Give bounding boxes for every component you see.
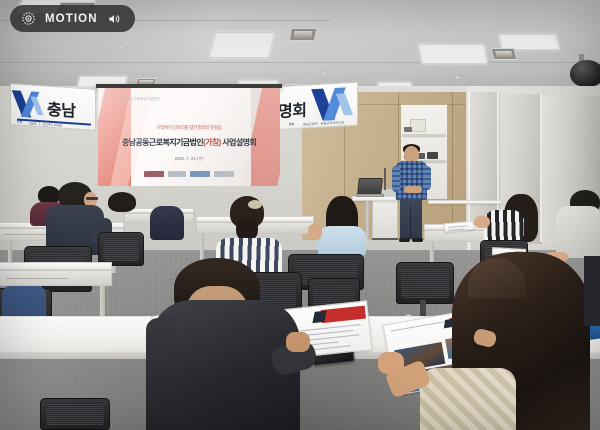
laptop-base [356, 194, 384, 197]
presenter-legs [400, 199, 422, 239]
attendee-back-center-torso [150, 206, 184, 240]
motion-badge[interactable]: MOTION [10, 5, 135, 32]
presenter-hands [404, 186, 422, 193]
attendee-front-right-hand [378, 352, 404, 374]
microphone-stand [384, 168, 386, 190]
attendee-mid-center-2-torso [318, 226, 366, 256]
event-banner-right: 명회 충남근로자 · 공동근로복지기금 CN [272, 82, 358, 131]
attendee-front-center-shoulder [146, 318, 176, 430]
glasses-icon [86, 197, 98, 200]
sprinkler-head [456, 76, 459, 79]
recessed-downlight [491, 48, 518, 60]
desk-mid-left [0, 262, 112, 270]
shelf-object [427, 152, 438, 159]
chair-post [420, 300, 426, 316]
attendee-right-striped-torso [484, 210, 524, 244]
sprinkler-head [322, 72, 325, 75]
presenter-leg-gap [410, 205, 411, 239]
banner-right-title: 명회 [278, 96, 306, 121]
sprinkler-head [120, 46, 123, 49]
shelf-object [404, 127, 412, 132]
photograph: 충남 2025. 7. 23.(수) 14:00 CN 명회 충남근로자 · 공… [0, 0, 600, 430]
projection-screen: 충남공동근로복지기금법인 지역복지·일자리를 향한 협력의 첫걸음 충남공동근로… [98, 88, 280, 186]
attendee-right-gray-torso [556, 206, 600, 258]
banner-right-subtitle: 충남근로자 · 공동근로복지기금 [303, 119, 344, 126]
recessed-downlight [289, 28, 317, 41]
laptop-screen [357, 178, 383, 195]
cabinet-seam [452, 92, 453, 240]
aperture-icon [21, 11, 36, 26]
attendee-front-right-top [420, 368, 516, 430]
presenter-shoe-right [412, 238, 423, 242]
desk-far-right [428, 200, 502, 204]
ceiling-panel-light [209, 32, 275, 58]
shelf [402, 134, 446, 136]
presenter-shoe-left [399, 238, 410, 242]
ceiling-speaker [570, 60, 600, 87]
screen-glare [98, 88, 280, 186]
table-leg [366, 200, 369, 240]
ceiling-seam [0, 62, 600, 63]
banner-left-subtitle: 2025. 7. 23.(수) 14:00 [29, 120, 62, 127]
desk-grommet-line [6, 278, 68, 279]
attendee-front-center-hand [286, 332, 310, 352]
lectern [372, 196, 398, 240]
presenter-arm-left [392, 166, 400, 192]
banner-left-title: 충남 [47, 96, 75, 122]
chair-back [98, 232, 144, 266]
attendee-right-striped-arm [474, 216, 490, 228]
sound-on-icon[interactable] [107, 12, 122, 26]
attendee-back-center-hair [108, 192, 136, 212]
shelf-box [410, 119, 426, 132]
motion-label: MOTION [45, 13, 98, 25]
hair-scrunchie [248, 200, 262, 209]
presenter-arm-right [423, 166, 431, 190]
ceiling-panel-light [418, 44, 488, 64]
chair-back [40, 398, 110, 430]
attendee-right-edge [584, 256, 600, 326]
event-banner-left: 충남 2025. 7. 23.(수) 14:00 CN [10, 83, 96, 131]
attendee-mid-center-2-arm [308, 224, 322, 240]
stand-base [372, 238, 398, 240]
chair-back [396, 262, 454, 304]
